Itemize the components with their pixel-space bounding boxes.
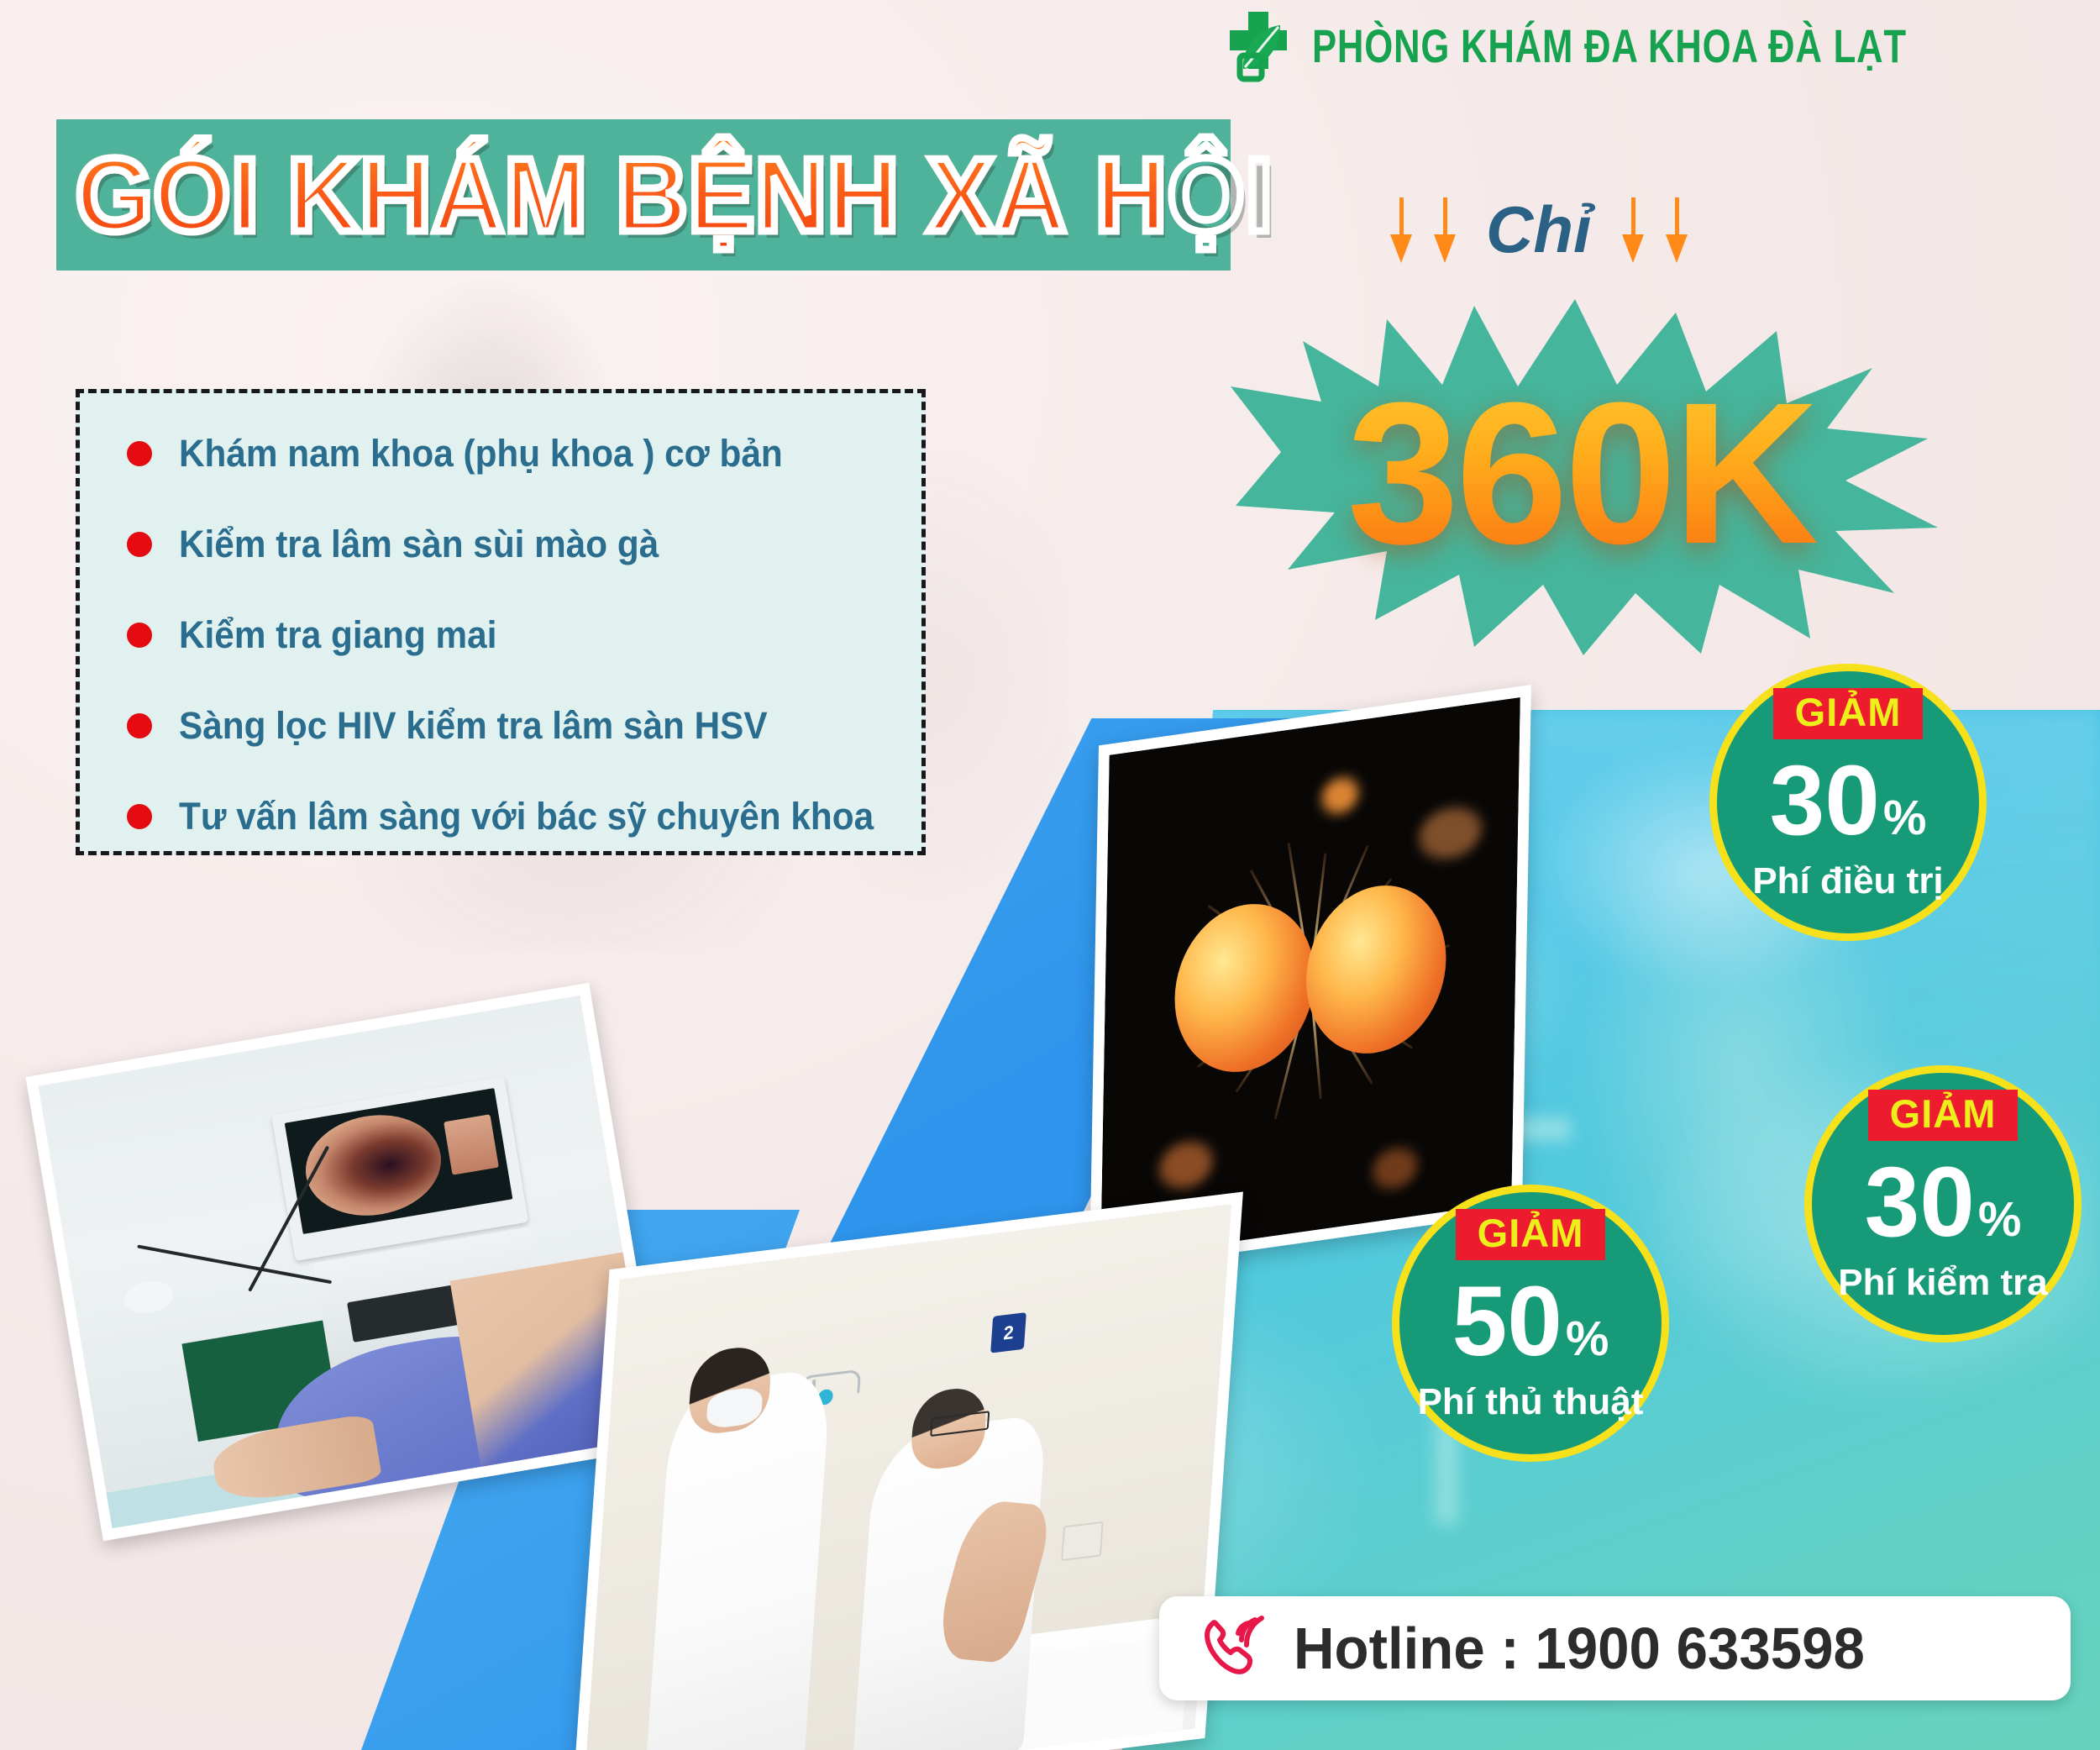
brand-name: PHÒNG KHÁM ĐA KHOA ĐÀ LẠT xyxy=(1312,18,1907,73)
arrow-down-icon xyxy=(1666,197,1688,263)
list-item-label: Khám nam khoa (phụ khoa ) cơ bản xyxy=(179,432,783,476)
discount-value: 50 xyxy=(1452,1272,1562,1371)
discount-caption: Phí điều trị xyxy=(1752,860,1943,902)
price-starburst: 360K xyxy=(1222,260,1940,664)
list-item-label: Sàng lọc HIV kiểm tra lâm sàn HSV xyxy=(179,704,768,748)
page-title: GÓI KHÁM BỆNH XÃ HỘI xyxy=(76,126,1161,265)
price-amount: 360K xyxy=(1222,260,1940,664)
bullet-icon xyxy=(127,532,152,557)
poster-canvas: 1 2 PHÒNG KHÁM ĐA KHOA ĐÀ LẠT xyxy=(0,0,2100,1750)
doctors-photo: 1 2 xyxy=(571,1191,1243,1750)
discount-percent: 30 % xyxy=(1770,751,1927,850)
endoscopy-photo xyxy=(25,983,666,1542)
bacteria-photo xyxy=(1089,685,1531,1273)
hotline-bar[interactable]: Hotline : 1900 633598 xyxy=(1159,1596,2071,1700)
arrow-down-icon xyxy=(1434,197,1456,263)
list-item-label: Tư vấn lâm sàng với bác sỹ chuyên khoa xyxy=(179,795,874,838)
list-item-label: Kiểm tra lâm sàn sùi mào gà xyxy=(179,523,659,566)
arrow-down-icon xyxy=(1390,197,1412,263)
discount-percent: 50 % xyxy=(1452,1272,1609,1371)
percent-sign: % xyxy=(1566,1315,1609,1364)
bullet-icon xyxy=(127,623,152,648)
list-item: Kiểm tra lâm sàn sùi mào gà xyxy=(127,523,921,566)
list-item-label: Kiểm tra giang mai xyxy=(179,613,496,657)
list-item: Sàng lọc HIV kiểm tra lâm sàn HSV xyxy=(127,704,921,748)
discount-badge-checkup: GIẢM 30 % Phí kiểm tra xyxy=(1804,1065,2082,1343)
price-prefix-label: Chỉ xyxy=(1486,192,1592,268)
discount-badge-treatment: GIẢM 30 % Phí điều trị xyxy=(1709,664,1987,941)
discount-caption: Phí kiểm tra xyxy=(1838,1262,2047,1304)
discount-badge-procedure: GIẢM 50 % Phí thủ thuật xyxy=(1392,1185,1669,1462)
discount-value: 30 xyxy=(1865,1153,1975,1252)
list-item: Khám nam khoa (phụ khoa ) cơ bản xyxy=(127,432,921,476)
discount-tag: GIẢM xyxy=(1868,1090,2019,1141)
bullet-icon xyxy=(127,441,152,466)
arrow-down-icon xyxy=(1622,197,1644,263)
bacteria-cell-left xyxy=(1173,895,1316,1081)
percent-sign: % xyxy=(1883,794,1927,843)
bacteria-cell-right xyxy=(1305,876,1447,1063)
brand-logo: PHÒNG KHÁM ĐA KHOA ĐÀ LẠT xyxy=(1220,7,2074,84)
price-prefix-row: Chỉ xyxy=(1390,192,1688,268)
hotline-label: Hotline : 1900 633598 xyxy=(1294,1615,1865,1682)
percent-sign: % xyxy=(1978,1196,2022,1244)
room-sign-2: 2 xyxy=(990,1312,1026,1353)
discount-caption: Phí thủ thuật xyxy=(1418,1381,1644,1423)
list-item: Kiểm tra giang mai xyxy=(127,613,921,657)
discount-value: 30 xyxy=(1770,751,1880,850)
discount-tag: GIẢM xyxy=(1456,1209,1606,1260)
list-item: Tư vấn lâm sàng với bác sỹ chuyên khoa xyxy=(127,795,921,838)
phone-ringing-icon xyxy=(1194,1608,1272,1690)
services-list: Khám nam khoa (phụ khoa ) cơ bản Kiểm tr… xyxy=(76,389,926,855)
bullet-icon xyxy=(127,804,152,829)
bullet-icon xyxy=(127,713,152,738)
discount-percent: 30 % xyxy=(1865,1153,2022,1252)
medical-cross-leaf-icon xyxy=(1220,7,1297,84)
discount-tag: GIẢM xyxy=(1773,688,1924,739)
